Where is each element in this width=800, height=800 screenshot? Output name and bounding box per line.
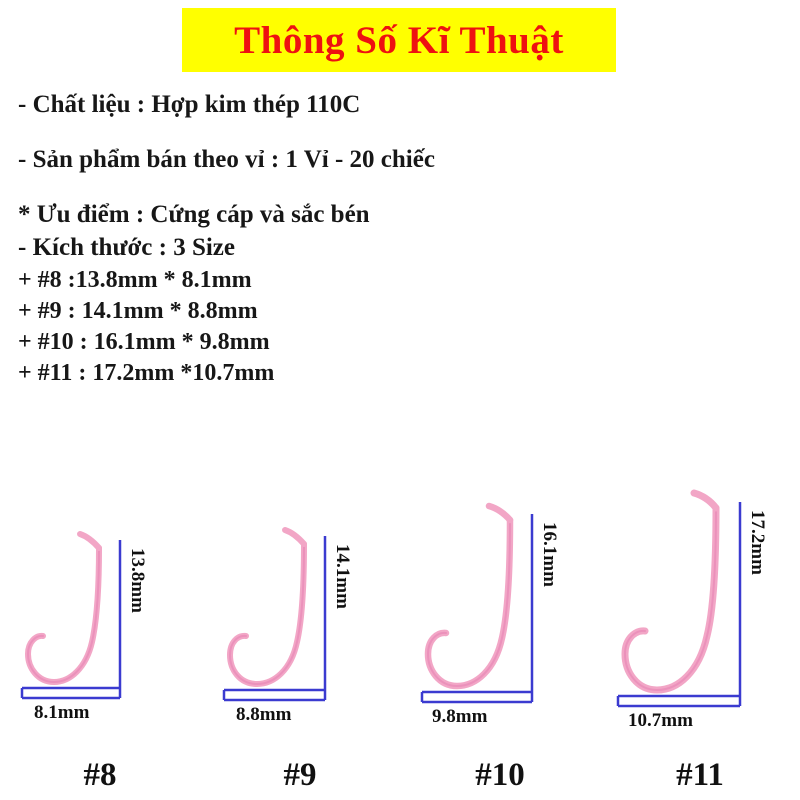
hook-height-10: 16.1mm — [538, 522, 560, 587]
spec-sizes-heading: - Kích thước : 3 Size — [18, 235, 778, 260]
spec-advantage: * Ưu điểm : Cứng cáp và sắc bén — [18, 202, 778, 227]
hook-label-8: #8 — [0, 757, 200, 794]
spec-size-10: + #10 : 16.1mm * 9.8mm — [18, 330, 778, 354]
hook-drawing-9-icon — [200, 470, 400, 760]
spec-packaging: - Sản phẩm bán theo vỉ : 1 Vỉ - 20 chiếc — [18, 147, 778, 172]
hook-diagram-11: 17.2mm 10.7mm #11 — [600, 470, 800, 800]
spec-material: - Chất liệu : Hợp kim thép 110C — [18, 92, 778, 117]
hook-diagram-8: 13.8mm 8.1mm #8 — [0, 470, 200, 800]
spec-size-11: + #11 : 17.2mm *10.7mm — [18, 361, 778, 385]
hook-label-9: #9 — [200, 757, 400, 794]
page-title: Thông Số Kĩ Thuật — [234, 21, 564, 60]
spec-size-8: + #8 :13.8mm * 8.1mm — [18, 268, 778, 292]
specification-list: - Chất liệu : Hợp kim thép 110C - Sản ph… — [18, 92, 778, 392]
hook-size-diagrams: 13.8mm 8.1mm #8 14.1mm 8.8mm #9 — [0, 470, 800, 800]
hook-height-8: 13.8mm — [126, 548, 148, 613]
hook-label-10: #10 — [400, 757, 600, 794]
hook-label-11: #11 — [600, 757, 800, 794]
title-banner: Thông Số Kĩ Thuật — [182, 8, 616, 72]
hook-width-10: 9.8mm — [432, 706, 487, 728]
hook-width-11: 10.7mm — [628, 710, 693, 732]
hook-drawing-10-icon — [400, 470, 600, 760]
hook-width-9: 8.8mm — [236, 704, 291, 726]
hook-width-8: 8.1mm — [34, 702, 89, 724]
hook-drawing-8-icon — [0, 470, 200, 760]
spec-size-9: + #9 : 14.1mm * 8.8mm — [18, 299, 778, 323]
hook-height-11: 17.2mm — [746, 510, 768, 575]
hook-diagram-9: 14.1mm 8.8mm #9 — [200, 470, 400, 800]
hook-diagram-10: 16.1mm 9.8mm #10 — [400, 470, 600, 800]
hook-height-9: 14.1mm — [331, 544, 353, 609]
